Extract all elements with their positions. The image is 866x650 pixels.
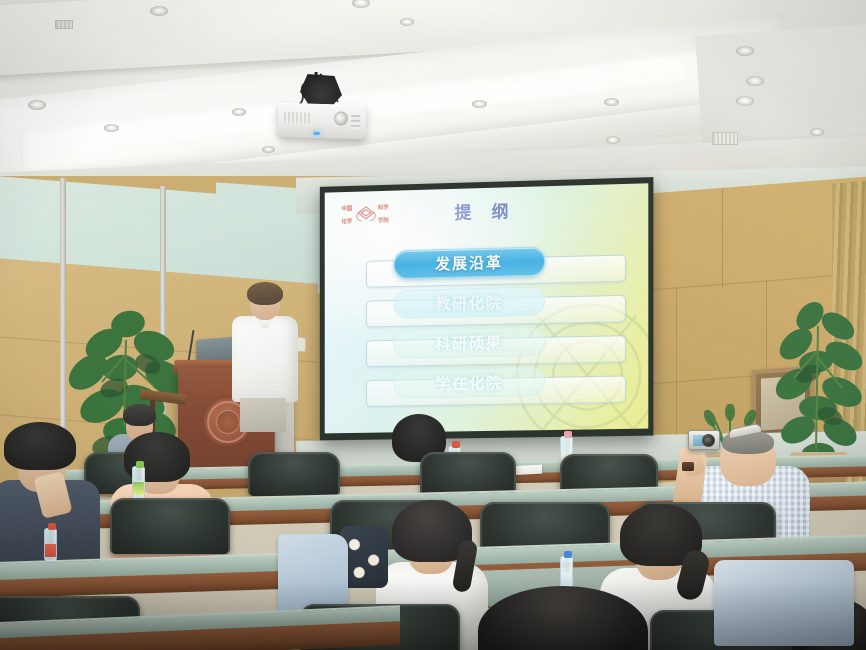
ceiling-projector xyxy=(278,103,367,139)
projector-power-led-icon xyxy=(314,132,320,135)
projector-lens-icon xyxy=(334,111,348,125)
audience-member-foreground xyxy=(478,586,658,650)
outline-item-1[interactable]: 发展沿革 xyxy=(394,246,546,279)
slide-outline-list: 发展沿革 教研化院 科研硕果 学在化院 xyxy=(346,244,634,410)
outline-item-4[interactable]: 学在化院 xyxy=(394,367,546,399)
camera-lens-icon xyxy=(702,434,715,447)
outline-row[interactable]: 发展沿革 xyxy=(346,244,634,291)
downlight-icon xyxy=(472,100,487,108)
hair xyxy=(478,586,648,650)
water-bottle[interactable] xyxy=(132,466,145,500)
audience-member-front-left xyxy=(0,418,114,568)
downlight-icon xyxy=(746,76,764,86)
ceiling-vent-icon xyxy=(712,132,738,145)
downlight-icon xyxy=(28,100,46,110)
projector-vent-icon xyxy=(284,112,310,124)
draped-jacket-right xyxy=(714,560,854,646)
wristwatch-icon xyxy=(682,462,694,471)
projection-screen-frame: 中国 科学 化学 学院 提 纲 发展沿革 教研化院 xyxy=(320,177,654,440)
chair[interactable] xyxy=(248,452,340,496)
downlight-icon xyxy=(104,124,119,132)
outline-row[interactable]: 学在化院 xyxy=(346,365,634,410)
outline-item-3[interactable]: 科研硕果 xyxy=(394,327,546,359)
presenter-trousers xyxy=(240,398,286,432)
water-bottle[interactable] xyxy=(560,556,573,590)
outline-item-2[interactable]: 教研化院 xyxy=(394,287,546,319)
glasses-icon xyxy=(254,301,277,307)
slide-title: 提 纲 xyxy=(325,193,649,227)
lecture-hall-photo: 中国 科学 化学 学院 提 纲 发展沿革 教研化院 xyxy=(0,0,866,650)
compact-digital-camera[interactable] xyxy=(688,430,720,450)
projector-buttons[interactable] xyxy=(351,115,360,129)
hair xyxy=(4,422,76,470)
downlight-icon xyxy=(736,96,754,106)
downlight-icon xyxy=(606,136,620,144)
downlight-icon xyxy=(604,98,619,106)
outline-row[interactable]: 教研化院 xyxy=(346,285,634,331)
chair[interactable] xyxy=(110,498,230,554)
downlight-icon xyxy=(232,108,246,116)
presentation-slide[interactable]: 中国 科学 化学 学院 提 纲 发展沿革 教研化院 xyxy=(325,183,649,433)
ceiling xyxy=(0,0,866,190)
ceiling-vent-icon xyxy=(55,20,73,29)
presenter-at-podium xyxy=(232,286,298,426)
water-bottle[interactable] xyxy=(44,528,57,562)
downlight-icon xyxy=(810,128,824,136)
downlight-icon xyxy=(150,6,168,16)
downlight-icon xyxy=(736,46,754,56)
downlight-icon xyxy=(262,146,275,153)
presenter-shirt xyxy=(232,316,298,402)
outline-row[interactable]: 科研硕果 xyxy=(346,325,634,371)
hair xyxy=(123,404,156,426)
downlight-icon xyxy=(400,18,414,26)
